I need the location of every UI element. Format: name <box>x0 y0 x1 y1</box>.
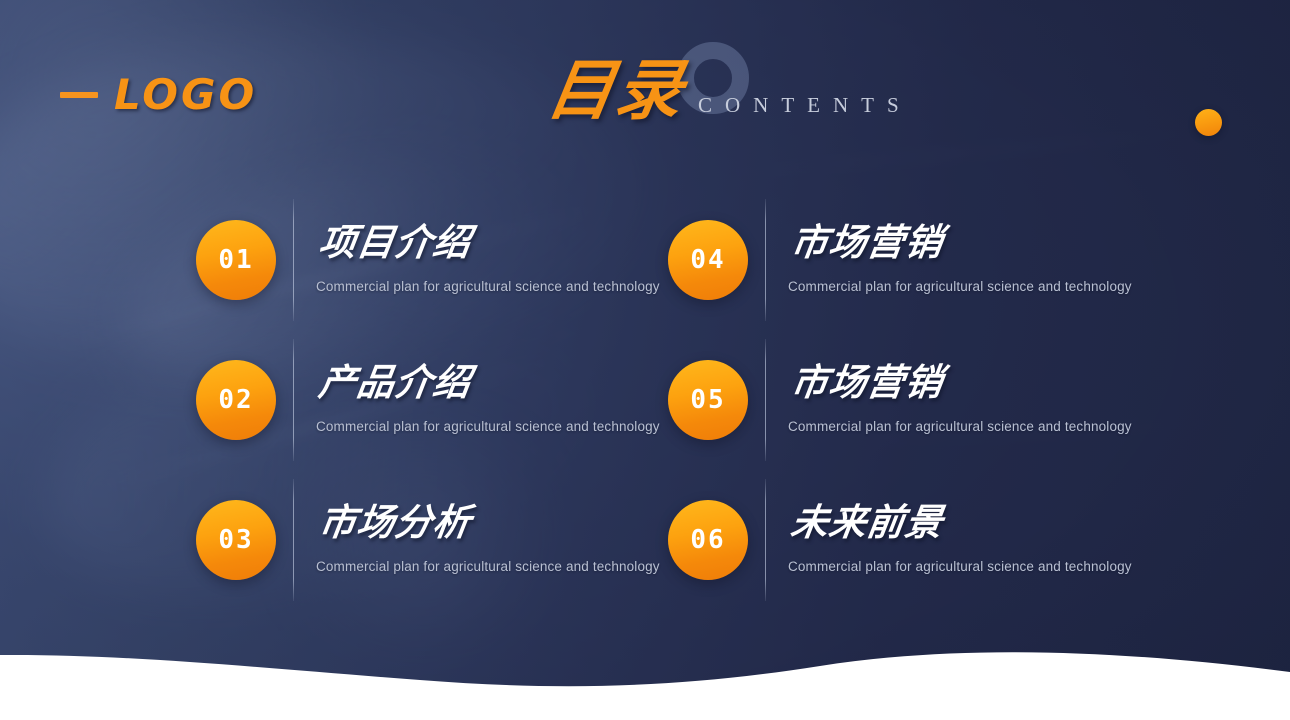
logo: LOGO <box>60 74 257 116</box>
toc-number-badge: 02 <box>196 360 276 440</box>
toc-item-01[interactable]: 01 项目介绍 Commercial plan for agricultural… <box>196 190 668 330</box>
toc-divider <box>765 479 766 601</box>
dash-icon <box>60 92 98 98</box>
toc-divider <box>293 339 294 461</box>
toc-text-block: 未来前景 Commercial plan for agricultural sc… <box>788 501 1132 579</box>
toc-number: 04 <box>690 247 725 273</box>
toc-number-badge: 06 <box>668 500 748 580</box>
page-title-cn: 目录 <box>543 58 689 124</box>
toc-heading: 未来前景 <box>788 501 1138 545</box>
toc-text-block: 项目介绍 Commercial plan for agricultural sc… <box>316 221 660 299</box>
toc-heading: 市场营销 <box>788 361 1138 405</box>
toc-subtitle: Commercial plan for agricultural science… <box>788 279 1132 295</box>
toc-number-badge: 04 <box>668 220 748 300</box>
toc-item-03[interactable]: 03 市场分析 Commercial plan for agricultural… <box>196 470 668 610</box>
page-title-en: CONTENTS <box>698 93 912 124</box>
toc-subtitle: Commercial plan for agricultural science… <box>788 559 1132 575</box>
orange-dot-icon <box>1195 109 1222 136</box>
toc-item-04[interactable]: 04 市场营销 Commercial plan for agricultural… <box>668 190 1140 330</box>
toc-divider <box>293 479 294 601</box>
bottom-wave-decoration <box>0 610 1290 720</box>
toc-text-block: 市场分析 Commercial plan for agricultural sc… <box>316 501 660 579</box>
toc-item-06[interactable]: 06 未来前景 Commercial plan for agricultural… <box>668 470 1140 610</box>
toc-number: 01 <box>218 247 253 273</box>
toc-item-05[interactable]: 05 市场营销 Commercial plan for agricultural… <box>668 330 1140 470</box>
toc-divider <box>765 339 766 461</box>
toc-text-block: 产品介绍 Commercial plan for agricultural sc… <box>316 361 660 439</box>
toc-heading: 产品介绍 <box>316 361 666 405</box>
toc-number-badge: 03 <box>196 500 276 580</box>
toc-divider <box>765 199 766 321</box>
toc-text-block: 市场营销 Commercial plan for agricultural sc… <box>788 361 1132 439</box>
toc-number: 06 <box>690 527 725 553</box>
toc-number-badge: 05 <box>668 360 748 440</box>
toc-subtitle: Commercial plan for agricultural science… <box>316 279 660 295</box>
toc-subtitle: Commercial plan for agricultural science… <box>788 419 1132 435</box>
toc-number: 02 <box>218 387 253 413</box>
page-title: 目录 CONTENTS <box>548 58 912 124</box>
toc-heading: 项目介绍 <box>316 221 666 265</box>
toc-number-badge: 01 <box>196 220 276 300</box>
table-of-contents: 01 项目介绍 Commercial plan for agricultural… <box>196 190 1146 610</box>
toc-subtitle: Commercial plan for agricultural science… <box>316 419 660 435</box>
toc-number: 03 <box>218 527 253 553</box>
toc-subtitle: Commercial plan for agricultural science… <box>316 559 660 575</box>
presentation-slide: LOGO 目录 CONTENTS 01 项目介绍 Commercial plan… <box>0 0 1290 720</box>
toc-item-02[interactable]: 02 产品介绍 Commercial plan for agricultural… <box>196 330 668 470</box>
toc-number: 05 <box>690 387 725 413</box>
toc-heading: 市场营销 <box>788 221 1138 265</box>
logo-text: LOGO <box>114 74 257 116</box>
toc-text-block: 市场营销 Commercial plan for agricultural sc… <box>788 221 1132 299</box>
toc-divider <box>293 199 294 321</box>
toc-heading: 市场分析 <box>316 501 666 545</box>
